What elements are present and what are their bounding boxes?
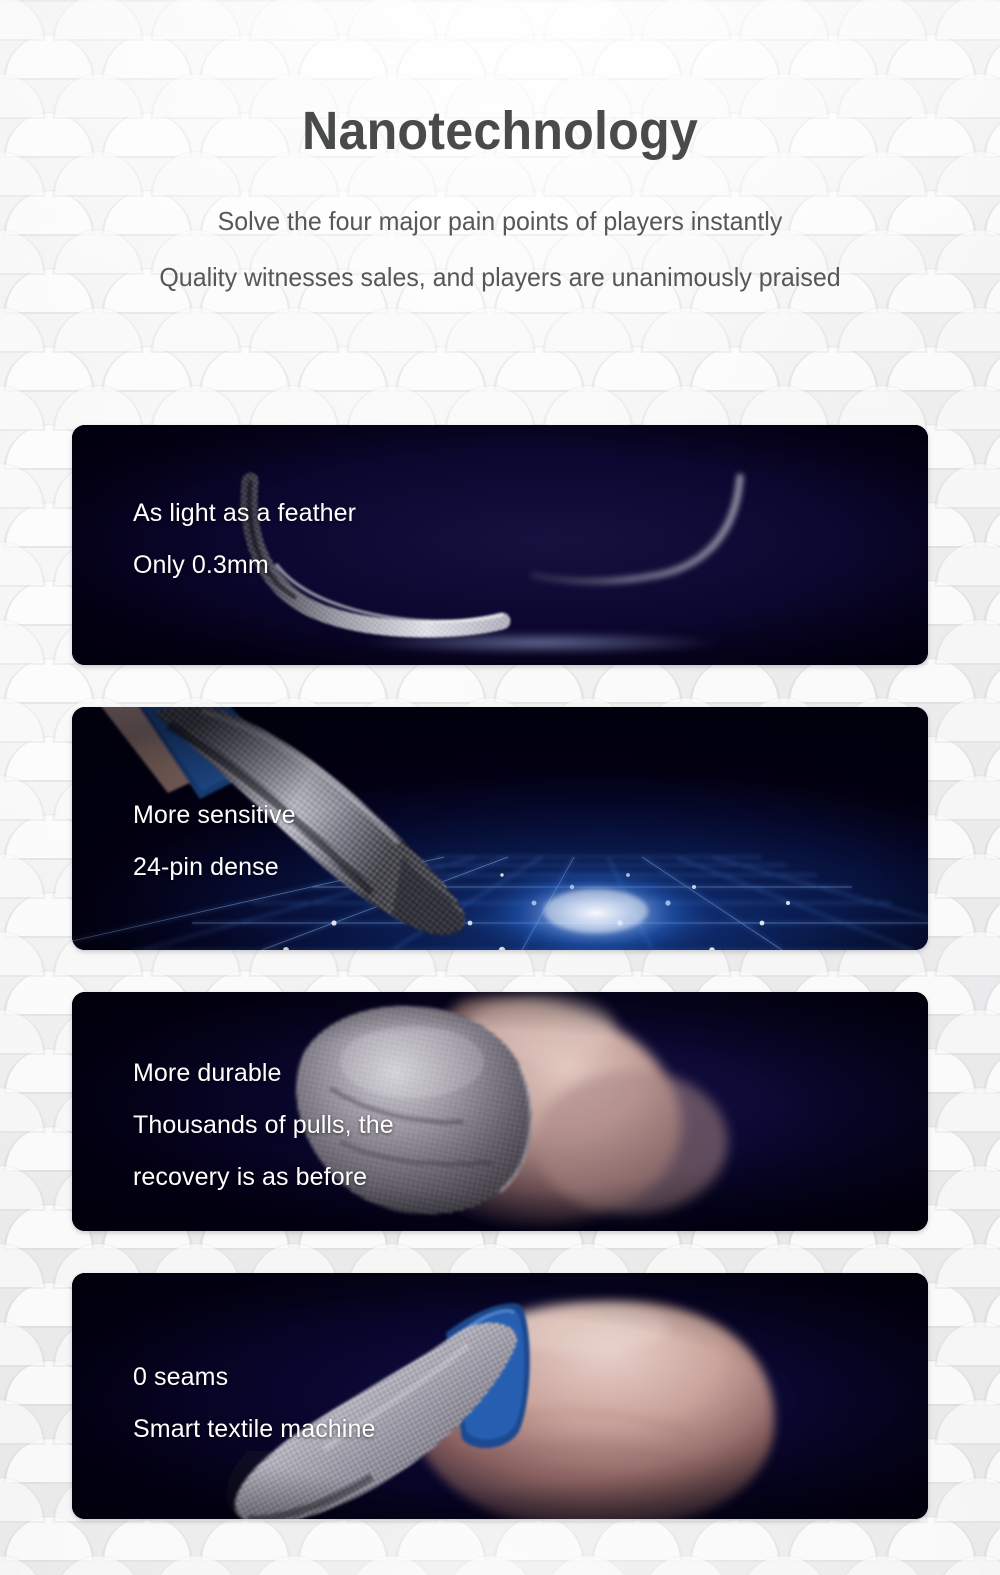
- page-subtitle-line-1: Solve the four major pain points of play…: [20, 208, 980, 234]
- feature-line: 0 seams: [133, 1351, 375, 1403]
- feature-card-seamless-text: 0 seams Smart textile machine: [133, 1351, 375, 1455]
- feature-line: Only 0.3mm: [133, 539, 356, 591]
- feature-line: 24-pin dense: [133, 841, 296, 893]
- feature-card-durable-text: More durable Thousands of pulls, the rec…: [133, 1047, 394, 1203]
- feature-line: Thousands of pulls, the: [133, 1099, 394, 1151]
- page-title: Nanotechnology: [35, 104, 965, 158]
- feature-card-durable[interactable]: More durable Thousands of pulls, the rec…: [72, 992, 928, 1231]
- feature-card-list: As light as a feather Only 0.3mm: [72, 425, 928, 1519]
- feature-card-sensitive[interactable]: More sensitive 24-pin dense: [72, 707, 928, 950]
- feature-line: Smart textile machine: [133, 1403, 375, 1455]
- feature-line: More durable: [133, 1047, 394, 1099]
- feature-line: As light as a feather: [133, 487, 356, 539]
- page-subtitle-line-2: Quality witnesses sales, and players are…: [20, 264, 980, 290]
- feature-card-light[interactable]: As light as a feather Only 0.3mm: [72, 425, 928, 665]
- feature-line: recovery is as before: [133, 1151, 394, 1203]
- feature-line: More sensitive: [133, 789, 296, 841]
- product-feature-page: Nanotechnology Solve the four major pain…: [0, 0, 1000, 1575]
- feature-card-sensitive-text: More sensitive 24-pin dense: [133, 789, 296, 893]
- feature-card-seamless[interactable]: 0 seams Smart textile machine: [72, 1273, 928, 1519]
- feature-card-light-text: As light as a feather Only 0.3mm: [133, 487, 356, 591]
